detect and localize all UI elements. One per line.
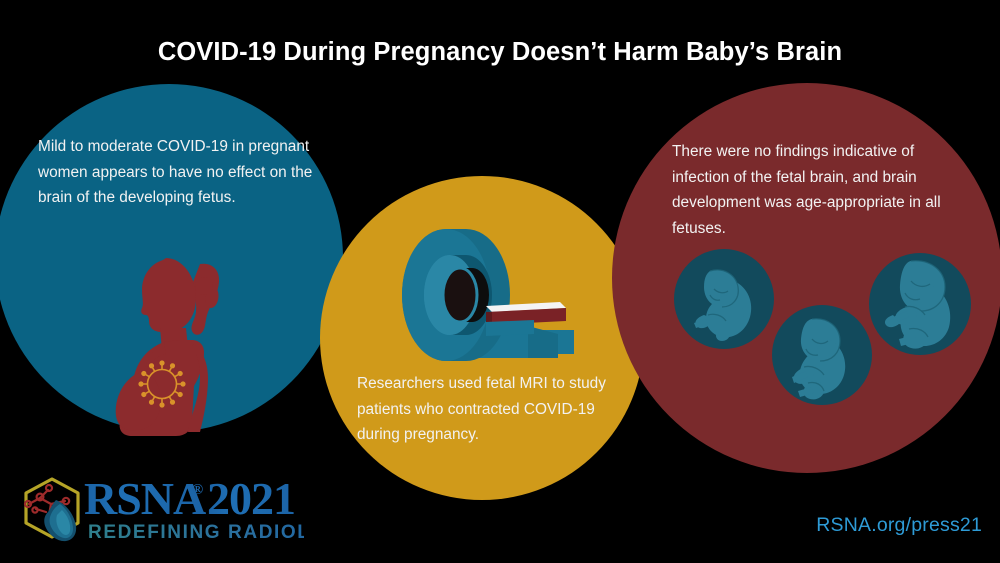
- pregnant-woman-silhouette: [108, 236, 248, 436]
- rsna-tagline-text: REDEFINING RADIOLOGY: [88, 522, 304, 543]
- mri-panel-text: Researchers used fetal MRI to study pati…: [357, 371, 622, 448]
- rsna-logo: RSNA ® 2021 REDEFINING RADIOLOGY: [16, 472, 301, 550]
- page-title: COVID-19 During Pregnancy Doesn’t Harm B…: [0, 38, 1000, 67]
- fetus-disc-2: [772, 305, 872, 405]
- infographic-canvas: COVID-19 During Pregnancy Doesn’t Harm B…: [0, 0, 1000, 563]
- rsna-wordmark: RSNA ® 2021 REDEFINING RADIOLOGY: [84, 472, 304, 548]
- registered-trademark-mark: ®: [192, 482, 203, 498]
- pregnant-woman-panel-text: Mild to moderate COVID-19 in pregnant wo…: [38, 134, 328, 211]
- rsna-year-text: 2021: [207, 473, 295, 524]
- mri-scanner-illustration: [388, 222, 583, 377]
- press-url[interactable]: RSNA.org/press21: [816, 514, 982, 537]
- rsna-hexagon-network-icon: [16, 474, 88, 548]
- fetus-disc-3: [869, 253, 971, 355]
- rsna-brand-text: RSNA: [84, 473, 206, 524]
- fetal-findings-panel-text: There were no findings indicative of inf…: [672, 139, 972, 241]
- fetus-disc-1: [674, 249, 774, 349]
